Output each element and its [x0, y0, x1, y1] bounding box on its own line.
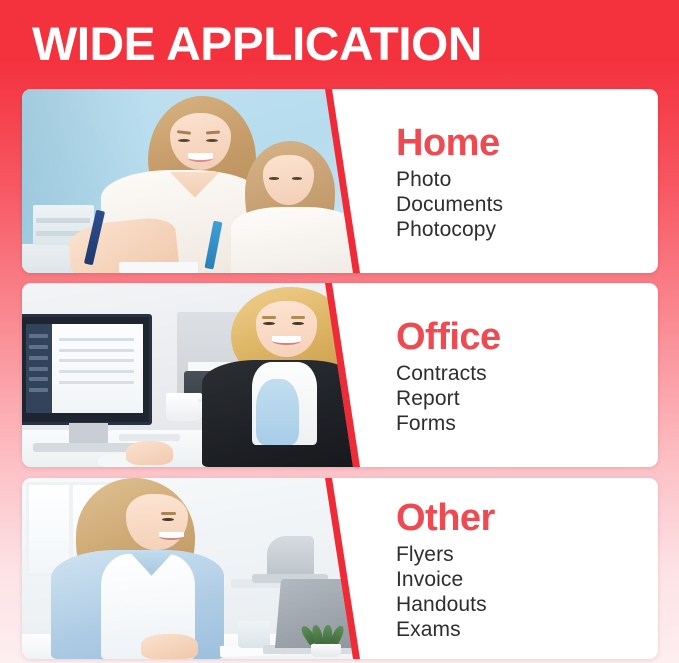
monitor-stand: [69, 423, 109, 445]
monitor-screen: [26, 324, 144, 414]
child-eye-left: [269, 177, 279, 180]
card-heading-office: Office: [396, 315, 658, 359]
woman-eye-left: [263, 322, 275, 325]
list-item: Exams: [396, 617, 658, 642]
clasped-hands: [141, 634, 199, 659]
child-eye-right: [292, 177, 302, 180]
text-panel-home: Home Photo Documents Photocopy: [378, 89, 658, 273]
child-torso: [231, 207, 357, 273]
woman-smile: [159, 532, 184, 539]
screen-sidebar: [26, 324, 52, 414]
woman-eyebrow-right: [291, 316, 305, 319]
woman-smile: [272, 336, 301, 344]
card-heading-home: Home: [396, 121, 658, 165]
adult-smile: [188, 153, 213, 161]
monitor-base: [33, 443, 141, 452]
page-title: WIDE APPLICATION: [32, 18, 644, 70]
adult-eye-left: [178, 139, 190, 142]
photo-office: [22, 283, 382, 467]
coffee-mug: [166, 393, 202, 421]
text-panel-office: Office Contracts Report Forms: [378, 283, 658, 467]
list-item: Photo: [396, 167, 658, 192]
woman-hand: [126, 441, 173, 465]
list-item: Photocopy: [396, 217, 658, 242]
woman-eye: [162, 518, 174, 521]
card-list-office: Contracts Report Forms: [396, 361, 658, 436]
wide-application-poster: WIDE APPLICATION: [0, 0, 679, 663]
adult-eye-right: [206, 139, 218, 142]
list-item: Documents: [396, 192, 658, 217]
woman-eye-right: [292, 322, 304, 325]
photo-other: [22, 478, 382, 659]
list-item: Contracts: [396, 361, 658, 386]
computer-monitor: [22, 314, 152, 424]
card-heading-other: Other: [396, 496, 658, 540]
woman-eyebrow: [161, 512, 177, 515]
blue-neck-bow: [256, 379, 299, 445]
paper-sheet: [119, 262, 198, 273]
list-item: Invoice: [396, 567, 658, 592]
text-panel-other: Other Flyers Invoice Handouts Exams: [378, 478, 658, 659]
photo-home: [22, 89, 382, 273]
card-list-home: Photo Documents Photocopy: [396, 167, 658, 242]
application-card-office: Office Contracts Report Forms: [22, 283, 658, 467]
list-item: Report: [396, 386, 658, 411]
potted-plant: [299, 625, 353, 658]
list-item: Forms: [396, 411, 658, 436]
woman-eyebrow-left: [262, 316, 276, 319]
application-card-other: Other Flyers Invoice Handouts Exams: [22, 478, 658, 659]
list-item: Handouts: [396, 592, 658, 617]
list-item: Flyers: [396, 542, 658, 567]
application-card-home: Home Photo Documents Photocopy: [22, 89, 658, 273]
card-list-other: Flyers Invoice Handouts Exams: [396, 542, 658, 642]
keyboard: [119, 434, 180, 441]
